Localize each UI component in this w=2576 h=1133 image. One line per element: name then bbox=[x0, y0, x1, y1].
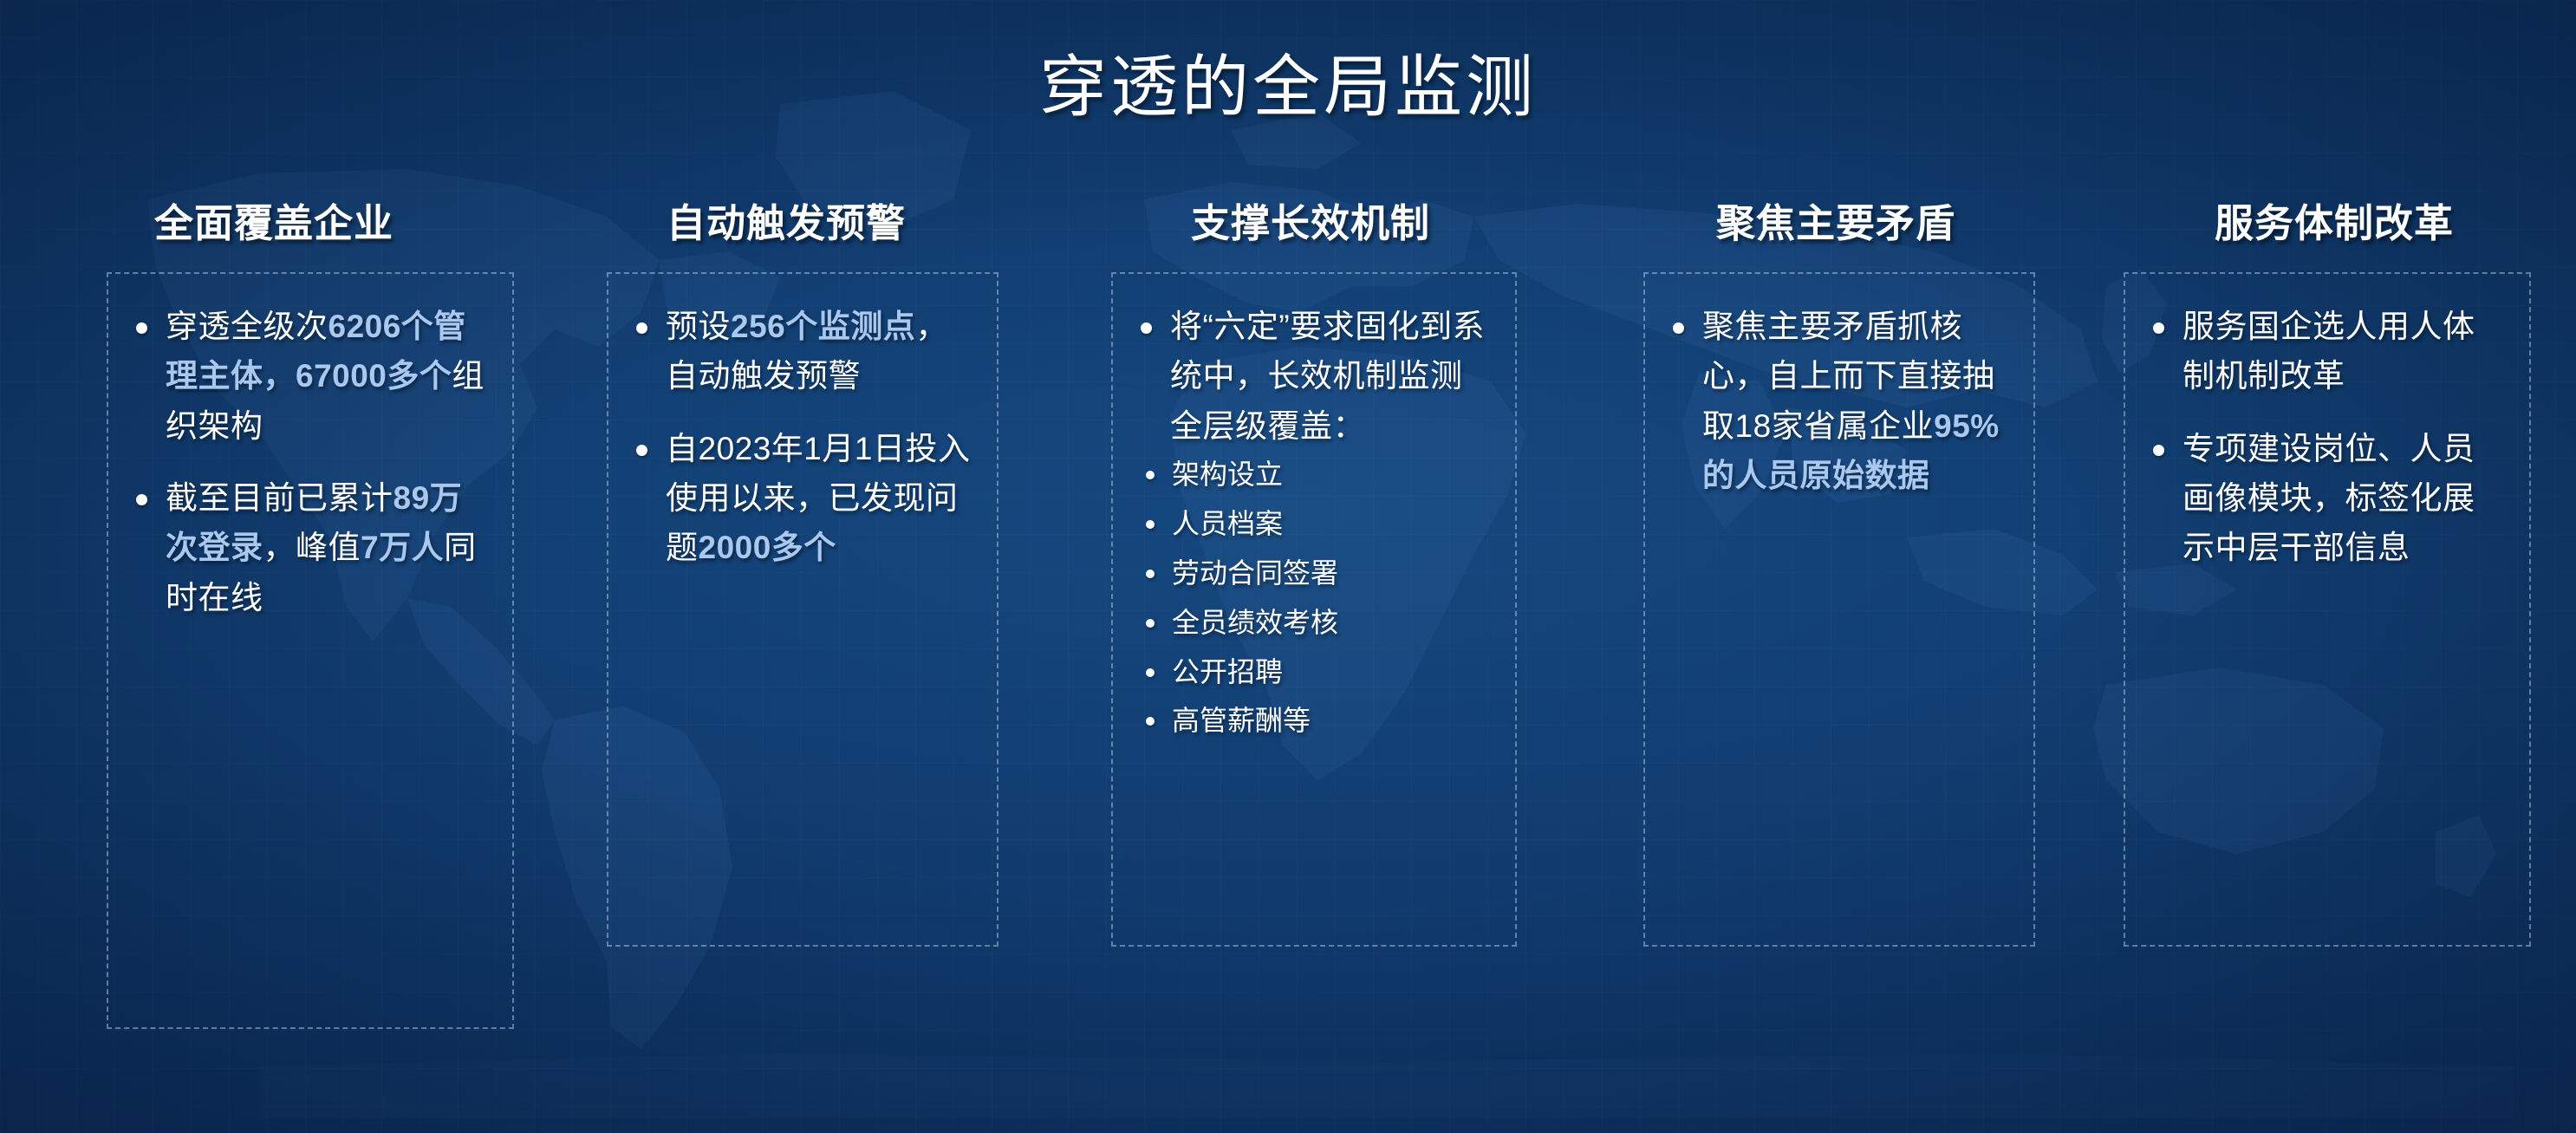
bullet-run: 预设 bbox=[666, 309, 731, 344]
list-item: 架构设立 bbox=[1129, 456, 1493, 493]
list-item: 预设256个监测点，自动触发预警 bbox=[624, 302, 974, 401]
bullet-run: 专项建设岗位、人员画像模块，标签化展示中层干部信息 bbox=[2182, 431, 2475, 566]
column-4-box: 聚焦主要矛盾抓核心，自上而下直接抽取18家省属企业95%的人员原始数据 bbox=[1643, 272, 2035, 947]
list-item: 劳动合同签署 bbox=[1129, 555, 1493, 592]
column-3: 支撑长效机制 将“六定”要求固化到系统中，长效机制监测全层级覆盖： 架构设立 人… bbox=[1042, 192, 1579, 1029]
column-5: 服务体制改革 服务国企选人用人体制机制改革 专项建设岗位、人员画像模块，标签化展… bbox=[2092, 192, 2576, 1029]
column-3-bullet-list: 将“六定”要求固化到系统中，长效机制监测全层级覆盖： bbox=[1129, 302, 1493, 451]
list-item: 将“六定”要求固化到系统中，长效机制监测全层级覆盖： bbox=[1129, 302, 1493, 451]
column-1-box: 穿透全级次6206个管理主体，67000多个组织架构 截至目前已累计89万次登录… bbox=[107, 272, 514, 1029]
list-item: 穿透全级次6206个管理主体，67000多个组织架构 bbox=[124, 302, 490, 451]
list-item: 自2023年1月1日投入使用以来，已发现问题2000多个 bbox=[624, 424, 974, 573]
columns-container: 全面覆盖企业 穿透全级次6206个管理主体，67000多个组织架构 截至目前已累… bbox=[0, 192, 2576, 1029]
column-5-box: 服务国企选人用人体制机制改革 专项建设岗位、人员画像模块，标签化展示中层干部信息 bbox=[2124, 272, 2531, 947]
column-4-heading: 聚焦主要矛盾 bbox=[1579, 192, 2092, 272]
list-item: 人员档案 bbox=[1129, 505, 1493, 543]
list-item: 聚焦主要矛盾抓核心，自上而下直接抽取18家省属企业95%的人员原始数据 bbox=[1661, 302, 2011, 500]
bullet-run: ，峰值 bbox=[263, 530, 361, 565]
bullet-run: 穿透全级次 bbox=[166, 309, 329, 344]
column-5-heading: 服务体制改革 bbox=[2092, 192, 2576, 272]
list-item: 全员绩效考核 bbox=[1129, 604, 1493, 641]
page-title: 穿透的全局监测 bbox=[0, 33, 2576, 130]
column-1: 全面覆盖企业 穿透全级次6206个管理主体，67000多个组织架构 截至目前已累… bbox=[0, 192, 530, 1029]
list-item: 专项建设岗位、人员画像模块，标签化展示中层干部信息 bbox=[2141, 424, 2507, 573]
bullet-run-highlight: 7万人 bbox=[361, 530, 444, 565]
column-1-heading: 全面覆盖企业 bbox=[17, 192, 530, 272]
column-4: 聚焦主要矛盾 聚焦主要矛盾抓核心，自上而下直接抽取18家省属企业95%的人员原始… bbox=[1579, 192, 2092, 1029]
list-item: 截至目前已累计89万次登录，峰值7万人同时在线 bbox=[124, 473, 490, 622]
bullet-run: 将“六定”要求固化到系统中，长效机制监测全层级覆盖： bbox=[1170, 309, 1485, 444]
bullet-run: 截至目前已累计 bbox=[166, 480, 394, 516]
column-3-heading: 支撑长效机制 bbox=[1042, 192, 1579, 272]
column-2-box: 预设256个监测点，自动触发预警 自2023年1月1日投入使用以来，已发现问题2… bbox=[607, 272, 999, 947]
column-4-bullet-list: 聚焦主要矛盾抓核心，自上而下直接抽取18家省属企业95%的人员原始数据 bbox=[1661, 302, 2011, 500]
slide-canvas: 穿透的全局监测 全面覆盖企业 穿透全级次6206个管理主体，67000多个组织架… bbox=[0, 0, 2576, 1133]
column-5-bullet-list: 服务国企选人用人体制机制改革 专项建设岗位、人员画像模块，标签化展示中层干部信息 bbox=[2141, 302, 2507, 573]
column-2: 自动触发预警 预设256个监测点，自动触发预警 自2023年1月1日投入使用以来… bbox=[530, 192, 1042, 1029]
column-2-bullet-list: 预设256个监测点，自动触发预警 自2023年1月1日投入使用以来，已发现问题2… bbox=[624, 302, 974, 573]
list-item: 服务国企选人用人体制机制改革 bbox=[2141, 302, 2507, 401]
list-item: 公开招聘 bbox=[1129, 654, 1493, 691]
bullet-run: 服务国企选人用人体制机制改革 bbox=[2182, 309, 2475, 394]
column-1-bullet-list: 穿透全级次6206个管理主体，67000多个组织架构 截至目前已累计89万次登录… bbox=[124, 302, 490, 622]
column-2-heading: 自动触发预警 bbox=[530, 192, 1042, 272]
list-item: 高管薪酬等 bbox=[1129, 702, 1493, 739]
bullet-run-highlight: 256个监测点 bbox=[731, 309, 915, 344]
column-3-sub-list: 架构设立 人员档案 劳动合同签署 全员绩效考核 公开招聘 高管薪酬等 bbox=[1129, 456, 1493, 739]
bullet-run-highlight: 2000多个 bbox=[699, 530, 836, 565]
column-3-box: 将“六定”要求固化到系统中，长效机制监测全层级覆盖： 架构设立 人员档案 劳动合… bbox=[1111, 272, 1517, 947]
